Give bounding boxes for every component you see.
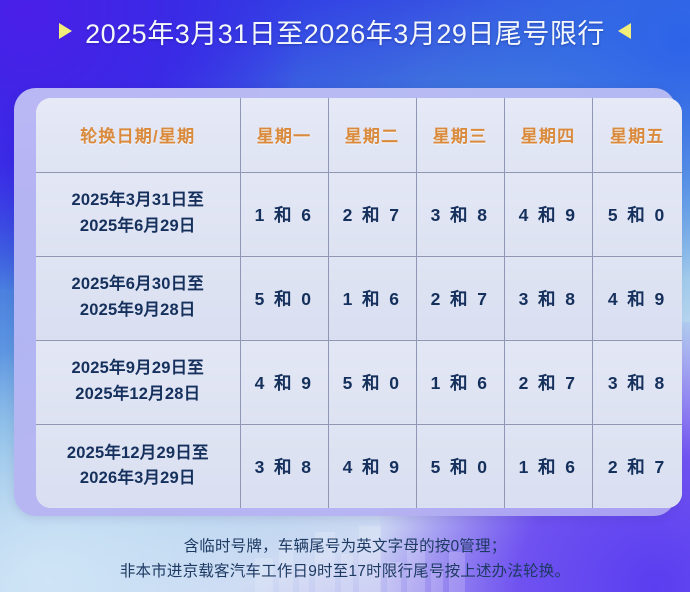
- table-row: 2025年9月29日至 2025年12月28日 4 和 9 5 和 0 1 和 …: [36, 340, 682, 424]
- period-line-2: 2025年9月28日: [36, 298, 240, 324]
- period-line-1: 2025年12月29日至: [36, 441, 240, 467]
- column-header-period: 轮换日期/星期: [36, 98, 240, 172]
- triangle-left-icon: [618, 23, 631, 39]
- footer-line-1: 含临时号牌，车辆尾号为英文字母的按0管理；: [0, 534, 690, 559]
- monday-cell: 5 和 0: [240, 256, 328, 340]
- column-header-monday: 星期一: [240, 98, 328, 172]
- monday-cell: 4 和 9: [240, 340, 328, 424]
- friday-cell: 3 和 8: [592, 340, 682, 424]
- tuesday-cell: 4 和 9: [328, 424, 416, 508]
- wednesday-cell: 2 和 7: [416, 256, 504, 340]
- thursday-cell: 4 和 9: [504, 172, 592, 256]
- triangle-right-icon: [59, 23, 72, 39]
- license-plate-restriction-table: 轮换日期/星期 星期一 星期二 星期三 星期四 星期五 2025年3月31日至 …: [36, 98, 682, 508]
- wednesday-cell: 3 和 8: [416, 172, 504, 256]
- friday-cell: 4 和 9: [592, 256, 682, 340]
- wednesday-cell: 1 和 6: [416, 340, 504, 424]
- wednesday-cell: 5 和 0: [416, 424, 504, 508]
- tuesday-cell: 1 和 6: [328, 256, 416, 340]
- tuesday-cell: 5 和 0: [328, 340, 416, 424]
- table-row: 2025年6月30日至 2025年9月28日 5 和 0 1 和 6 2 和 7…: [36, 256, 682, 340]
- period-line-1: 2025年3月31日至: [36, 188, 240, 214]
- monday-cell: 1 和 6: [240, 172, 328, 256]
- table-card-frame: 轮换日期/星期 星期一 星期二 星期三 星期四 星期五 2025年3月31日至 …: [14, 88, 676, 516]
- period-cell: 2025年12月29日至 2026年3月29日: [36, 424, 240, 508]
- period-line-1: 2025年6月30日至: [36, 272, 240, 298]
- footer-notes: 含临时号牌，车辆尾号为英文字母的按0管理； 非本市进京载客汽车工作日9时至17时…: [0, 534, 690, 584]
- period-line-2: 2026年3月29日: [36, 466, 240, 492]
- monday-cell: 3 和 8: [240, 424, 328, 508]
- friday-cell: 5 和 0: [592, 172, 682, 256]
- thursday-cell: 3 和 8: [504, 256, 592, 340]
- friday-cell: 2 和 7: [592, 424, 682, 508]
- period-line-2: 2025年6月29日: [36, 214, 240, 240]
- table-row: 2025年3月31日至 2025年6月29日 1 和 6 2 和 7 3 和 8…: [36, 172, 682, 256]
- thursday-cell: 1 和 6: [504, 424, 592, 508]
- page-title-bar: 2025年3月31日至2026年3月29日尾号限行: [0, 9, 690, 53]
- column-header-thursday: 星期四: [504, 98, 592, 172]
- table-header: 轮换日期/星期 星期一 星期二 星期三 星期四 星期五: [36, 98, 682, 172]
- period-cell: 2025年3月31日至 2025年6月29日: [36, 172, 240, 256]
- period-line-1: 2025年9月29日至: [36, 356, 240, 382]
- thursday-cell: 2 和 7: [504, 340, 592, 424]
- tuesday-cell: 2 和 7: [328, 172, 416, 256]
- table-header-row: 轮换日期/星期 星期一 星期二 星期三 星期四 星期五: [36, 98, 682, 172]
- period-cell: 2025年9月29日至 2025年12月28日: [36, 340, 240, 424]
- column-header-friday: 星期五: [592, 98, 682, 172]
- period-line-2: 2025年12月28日: [36, 382, 240, 408]
- table-body: 2025年3月31日至 2025年6月29日 1 和 6 2 和 7 3 和 8…: [36, 172, 682, 508]
- footer-line-2: 非本市进京载客汽车工作日9时至17时限行尾号按上述办法轮换。: [0, 559, 690, 584]
- page-title: 2025年3月31日至2026年3月29日尾号限行: [85, 12, 605, 51]
- table-row: 2025年12月29日至 2026年3月29日 3 和 8 4 和 9 5 和 …: [36, 424, 682, 508]
- column-header-tuesday: 星期二: [328, 98, 416, 172]
- column-header-wednesday: 星期三: [416, 98, 504, 172]
- period-cell: 2025年6月30日至 2025年9月28日: [36, 256, 240, 340]
